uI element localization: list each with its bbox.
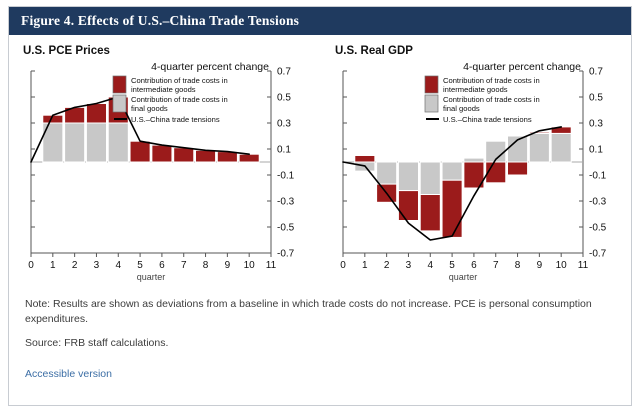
svg-text:4-quarter percent change: 4-quarter percent change [151,61,269,73]
svg-text:3: 3 [94,260,100,271]
svg-text:Contribution of trade costs in: Contribution of trade costs in [131,76,228,85]
svg-text:-0.5: -0.5 [589,223,607,234]
svg-text:1: 1 [362,260,368,271]
svg-text:0.3: 0.3 [589,119,603,130]
svg-text:0.7: 0.7 [589,67,603,78]
svg-text:10: 10 [556,260,568,271]
svg-text:2: 2 [384,260,390,271]
svg-text:-0.1: -0.1 [589,171,607,182]
svg-text:11: 11 [266,260,277,271]
svg-text:0: 0 [28,260,34,271]
svg-text:-0.3: -0.3 [589,197,607,208]
svg-text:quarter: quarter [449,272,478,282]
chart-panel-gdp: U.S. Real GDP 0.70.50.30.1-0.1-0.3-0.5-0… [321,41,633,287]
svg-text:final goods: final goods [131,104,168,113]
page-title: Figure 4. Effects of U.S.–China Trade Te… [21,13,299,29]
chart-panels: U.S. PCE Prices 0.70.50.30.1-0.1-0.3-0.5… [9,35,631,287]
figure-container: Figure 4. Effects of U.S.–China Trade Te… [8,6,632,406]
svg-text:4: 4 [427,260,433,271]
svg-text:-0.3: -0.3 [277,197,295,208]
accessible-version-link[interactable]: Accessible version [25,368,112,380]
svg-text:5: 5 [449,260,455,271]
svg-text:0.7: 0.7 [277,67,291,78]
svg-text:5: 5 [137,260,143,271]
svg-text:0.5: 0.5 [277,93,291,104]
svg-text:intermediate goods: intermediate goods [131,85,196,94]
chart-real-gdp: 0.70.50.30.1-0.1-0.3-0.5-0.7012345678910… [321,57,633,287]
svg-text:-0.5: -0.5 [277,223,295,234]
note-text: Note: Results are shown as deviations fr… [25,297,615,327]
svg-text:4: 4 [115,260,121,271]
svg-text:-0.7: -0.7 [277,249,295,260]
svg-text:Contribution of trade costs in: Contribution of trade costs in [131,95,228,104]
svg-text:9: 9 [225,260,231,271]
svg-text:6: 6 [471,260,477,271]
svg-text:11: 11 [578,260,589,271]
svg-text:-0.7: -0.7 [589,249,607,260]
figure-title-bar: Figure 4. Effects of U.S.–China Trade Te… [9,7,631,35]
svg-text:0.1: 0.1 [277,145,291,156]
svg-text:7: 7 [181,260,187,271]
svg-text:final goods: final goods [443,104,480,113]
svg-text:0.1: 0.1 [589,145,603,156]
svg-text:9: 9 [537,260,543,271]
svg-text:6: 6 [159,260,165,271]
chart-title-gdp: U.S. Real GDP [335,45,633,57]
svg-text:0.5: 0.5 [589,93,603,104]
chart-panel-pce: U.S. PCE Prices 0.70.50.30.1-0.1-0.3-0.5… [9,41,321,287]
svg-text:Contribution of trade costs in: Contribution of trade costs in [443,95,540,104]
chart-title-pce: U.S. PCE Prices [23,45,321,57]
svg-text:7: 7 [493,260,499,271]
svg-text:8: 8 [515,260,521,271]
chart-pce-prices: 0.70.50.30.1-0.1-0.3-0.5-0.7012345678910… [9,57,321,287]
svg-text:-0.1: -0.1 [277,171,295,182]
svg-text:U.S.–China trade tensions: U.S.–China trade tensions [443,115,532,124]
svg-text:U.S.–China trade tensions: U.S.–China trade tensions [131,115,220,124]
svg-text:1: 1 [50,260,56,271]
svg-text:2: 2 [72,260,78,271]
svg-text:quarter: quarter [137,272,166,282]
svg-text:0.3: 0.3 [277,119,291,130]
svg-text:3: 3 [406,260,412,271]
svg-text:4-quarter percent change: 4-quarter percent change [463,61,581,73]
svg-text:0: 0 [340,260,346,271]
svg-text:10: 10 [244,260,256,271]
svg-text:Contribution of trade costs in: Contribution of trade costs in [443,76,540,85]
svg-text:intermediate goods: intermediate goods [443,85,508,94]
svg-text:8: 8 [203,260,209,271]
figure-notes: Note: Results are shown as deviations fr… [9,287,631,382]
source-text: Source: FRB staff calculations. [25,336,615,351]
